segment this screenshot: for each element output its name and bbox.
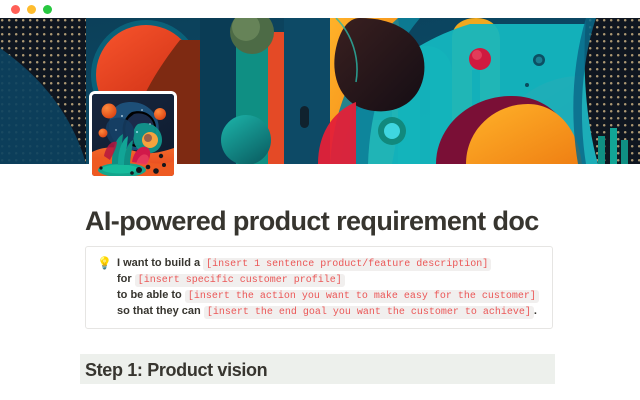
callout-content: I want to build a [insert 1 sentence pro… <box>113 255 540 319</box>
app-window: AI-powered product requirement doc 💡 I w… <box>0 0 640 400</box>
window-titlebar <box>0 0 640 18</box>
callout-label: for <box>117 273 132 285</box>
callout-line: so that they can [insert the end goal yo… <box>117 303 540 319</box>
callout-placeholder[interactable]: [insert the action you want to make easy… <box>185 290 539 303</box>
page-icon-illustration <box>92 94 174 176</box>
callout-line: to be able to [insert the action you wan… <box>117 287 540 303</box>
callout-line: I want to build a [insert 1 sentence pro… <box>117 255 540 271</box>
callout-block[interactable]: 💡 I want to build a [insert 1 sentence p… <box>85 246 553 329</box>
callout-placeholder[interactable]: [insert specific customer profile] <box>135 274 345 287</box>
page-icon[interactable] <box>92 94 174 176</box>
maximize-window-button[interactable] <box>43 5 52 14</box>
callout-suffix: . <box>534 305 537 317</box>
callout-placeholder[interactable]: [insert 1 sentence product/feature descr… <box>203 258 491 271</box>
light-bulb-icon: 💡 <box>96 256 113 271</box>
page-title[interactable]: AI-powered product requirement doc <box>85 207 539 237</box>
callout-label: I want to build a <box>117 257 200 269</box>
callout-placeholder[interactable]: [insert the end goal you want the custom… <box>204 306 534 319</box>
callout-line: for [insert specific customer profile] <box>117 271 540 287</box>
section-heading-step-1[interactable]: Step 1: Product vision <box>85 359 267 381</box>
callout-label: so that they can <box>117 305 201 317</box>
minimize-window-button[interactable] <box>27 5 36 14</box>
close-window-button[interactable] <box>11 5 20 14</box>
callout-label: to be able to <box>117 289 182 301</box>
document-body: AI-powered product requirement doc 💡 I w… <box>0 178 640 400</box>
